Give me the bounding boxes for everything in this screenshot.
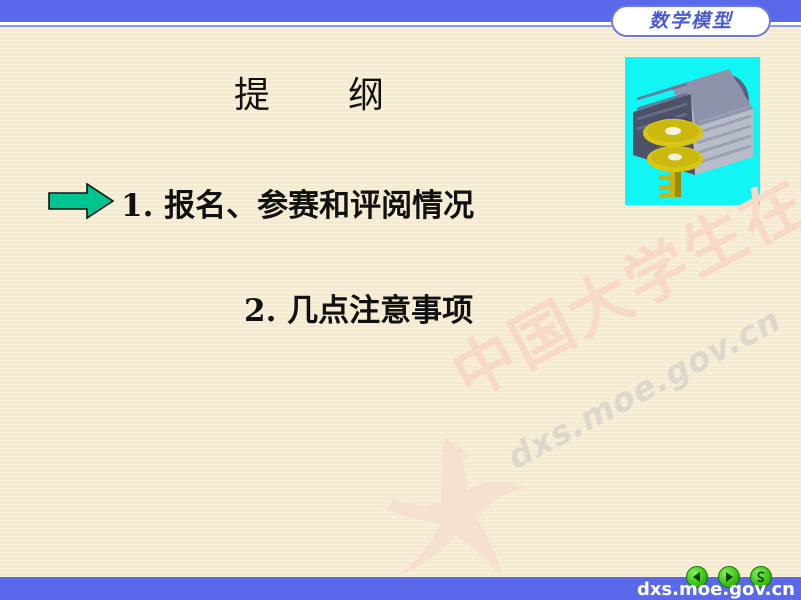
padlock-with-key-image (625, 57, 760, 205)
presentation-slide: 数学模型 提 纲 (0, 0, 801, 600)
running-figure-logo (358, 408, 593, 600)
course-badge-label: 数学模型 (649, 12, 733, 31)
course-badge: 数学模型 (611, 5, 771, 37)
page-title: 提 纲 (0, 66, 620, 118)
watermark-url: dxs.moe.gov.cn (501, 300, 788, 477)
footer-url: dxs.moe.gov.cn (637, 579, 795, 600)
list-item: 2. 几点注意事项 (244, 285, 473, 330)
right-arrow-icon (47, 182, 115, 220)
list-item: 1. 报名、参赛和评阅情况 (121, 180, 474, 225)
